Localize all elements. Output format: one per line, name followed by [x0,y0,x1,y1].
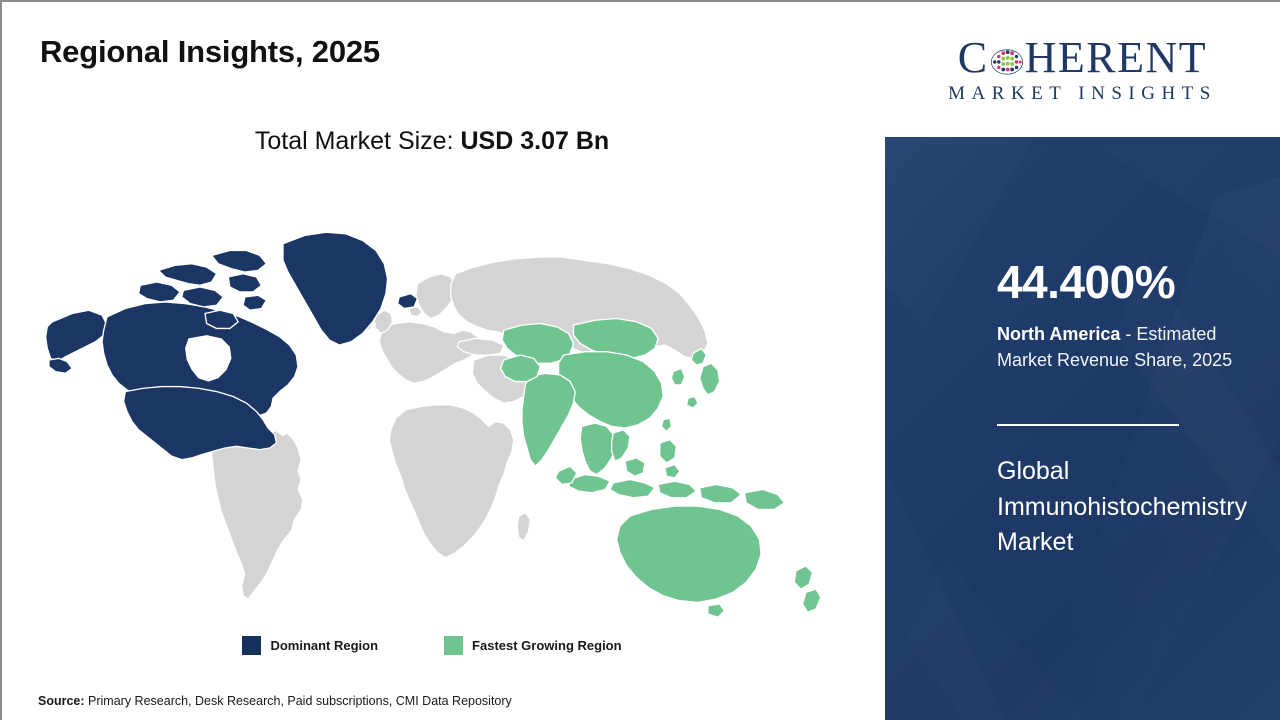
map-legend: Dominant Region Fastest Growing Region [2,636,862,655]
globe-icon-svg [990,45,1024,79]
regional-insights-infographic: Regional Insights, 2025 Total Market Siz… [0,0,1280,720]
legend-label-fastest-growing: Fastest Growing Region [472,638,622,653]
legend-swatch-fastest-growing [444,636,463,655]
globe-icon [990,43,1024,77]
legend-item-fastest-growing: Fastest Growing Region [444,636,622,655]
total-market-size: Total Market Size: USD 3.07 Bn [2,127,862,156]
source-text: Primary Research, Desk Research, Paid su… [88,694,512,708]
legend-label-dominant: Dominant Region [270,638,378,653]
brand-tagline: MARKET INSIGHTS [948,84,1217,103]
source-label: Source: [38,694,85,708]
market-name: Global Immunohistochemistry Market [997,454,1269,561]
world-map-svg [34,184,864,624]
total-market-size-label: Total Market Size: [255,127,454,155]
brand-name-part1: C [958,36,989,80]
stat-percent-value: 44.400% [997,259,1175,305]
legend-swatch-dominant [242,636,261,655]
stat-divider-line [997,424,1179,426]
page-title: Regional Insights, 2025 [40,34,380,70]
brand-name-part2: HERENT [1025,36,1208,80]
stat-content: 44.400% North America - Estimated Market… [885,137,1280,720]
brand-logo: C [885,2,1280,137]
source-note: Source: Primary Research, Desk Research,… [38,694,512,708]
left-panel: Regional Insights, 2025 Total Market Siz… [2,2,885,720]
stat-panel: 44.400% North America - Estimated Market… [885,137,1280,720]
legend-item-dominant: Dominant Region [242,636,378,655]
map-region-fastest-growing [500,319,820,618]
world-map [34,184,864,624]
stat-description: North America - Estimated Market Revenue… [997,321,1265,373]
stat-region-name: North America [997,324,1120,344]
map-region-dominant [46,232,418,459]
right-panel: C [885,2,1280,720]
brand-wordmark: C [958,36,1207,80]
total-market-size-value: USD 3.07 Bn [460,127,609,155]
